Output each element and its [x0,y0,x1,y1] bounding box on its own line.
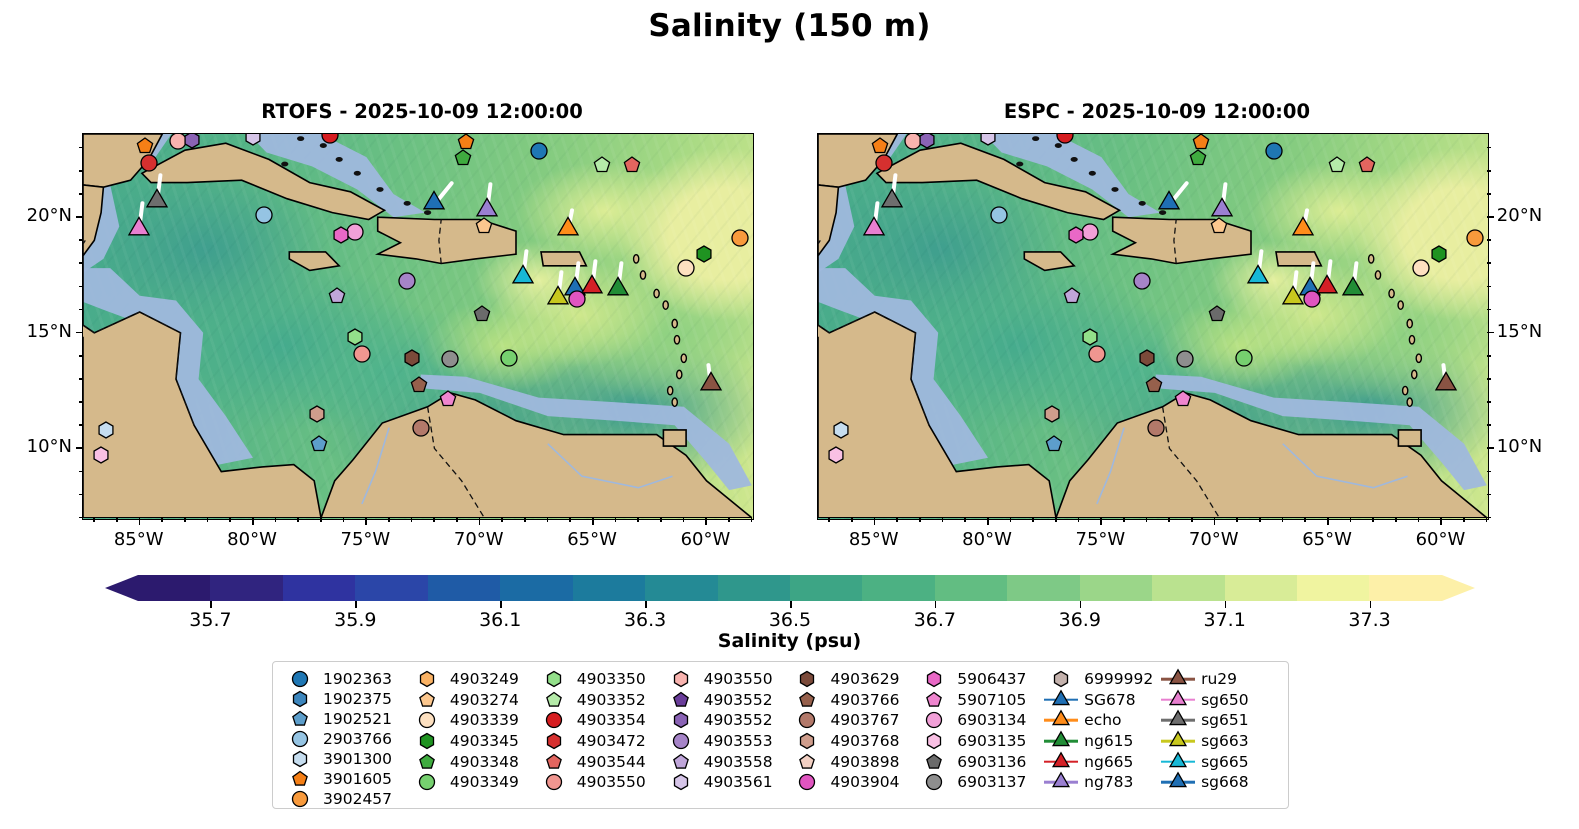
legend-item-label: 4903348 [444,753,519,771]
legend-column: 4903350490335249033544903472490354449035… [537,669,664,802]
observation-marker-2903766[interactable] [989,205,1009,225]
x-axis-tick [479,518,481,525]
x-axis-tick [728,518,730,522]
observation-marker-3902457[interactable] [1465,228,1485,248]
colorbar-segment [500,575,572,601]
circle-marker-icon [790,710,824,730]
x-axis-label: 85°W [834,529,914,550]
x-axis-tick [93,518,95,522]
x-axis-tick [1168,518,1170,522]
legend-column: ru29sg650sg651sg663sg665sg668 [1161,669,1278,802]
legend-item-label: 6903137 [951,773,1026,791]
pentagon-marker-icon [917,752,951,772]
observation-marker-sg651[interactable] [880,190,903,213]
observation-marker-4903904[interactable] [567,289,587,309]
legend-item[interactable]: 2903766 [283,729,410,749]
y-axis-tick [79,494,83,496]
legend-item[interactable]: ng615 [1044,731,1161,752]
x-axis-label: 60°W [665,529,745,550]
y-axis-tick [1487,239,1491,241]
legend-item[interactable]: 4903552 [664,710,791,731]
observation-marker-4903274[interactable] [474,216,494,236]
observation-marker-4903349[interactable] [1234,348,1254,368]
legend-item[interactable]: 4903249 [410,669,537,690]
legend-item-label: 4903558 [698,753,773,771]
x-axis-tick [1032,518,1034,522]
legend-item-label: 3901605 [317,770,392,788]
legend-item-label: 4903345 [444,732,519,750]
legend-item[interactable]: 6999992 [1044,669,1161,690]
observation-marker-sg650[interactable] [862,217,885,240]
triangle-marker-icon [1044,710,1078,730]
y-axis-tick [1487,471,1491,473]
colorbar-segment [355,575,427,601]
colorbar-tick-label: 36.3 [600,609,690,631]
triangle-marker-icon [1161,752,1195,772]
pentagon-marker-icon [664,690,698,710]
legend-item[interactable]: 4903904 [790,772,917,793]
x-axis-label: 80°W [212,529,292,550]
y-axis-tick [76,332,83,334]
colorbar-segment [1152,575,1224,601]
coastline-layer [83,134,752,518]
colorbar-segment [1080,575,1152,601]
legend-item[interactable]: 5907105 [917,690,1044,711]
x-axis-tick [896,518,898,522]
colorbar-tick-label: 36.5 [745,609,835,631]
legend-item[interactable]: 1902363 [283,669,410,689]
x-axis-tick [524,518,526,522]
legend-item[interactable]: 4903472 [537,731,664,752]
x-axis-tick [1214,518,1216,525]
y-axis-tick [1487,170,1491,172]
legend-item[interactable]: 1902521 [283,709,410,729]
x-axis-tick [851,518,853,522]
observation-marker-4903345[interactable] [694,244,714,264]
circle-marker-icon [917,772,951,792]
colorbar-tick [790,601,792,608]
circle-marker-icon [790,772,824,792]
colorbar-tick-label: 36.7 [890,609,980,631]
observation-marker-ng615[interactable] [1342,277,1365,300]
observation-marker-4903339[interactable] [1411,258,1431,278]
colorbar-tick-label: 35.9 [310,609,400,631]
x-axis-tick [501,518,503,522]
observation-marker-1902521[interactable] [1044,434,1064,454]
observation-marker-4903339[interactable] [676,258,696,278]
x-axis-tick [229,518,231,522]
legend-item[interactable]: echo [1044,710,1161,731]
observation-marker-3902457[interactable] [730,228,750,248]
x-axis-tick [615,518,617,522]
legend-item-label: sg650 [1195,691,1249,709]
map-panel-rtofs[interactable] [82,133,754,520]
legend-item[interactable]: 4903766 [790,690,917,711]
colorbar-tick-label: 35.7 [165,609,255,631]
legend-item-label: ru29 [1195,670,1237,688]
x-axis-tick [569,518,571,522]
circle-marker-icon [664,731,698,751]
x-axis-tick [1372,518,1374,522]
hexagon-marker-icon [537,669,571,689]
observation-marker-6903137[interactable] [440,349,460,369]
pentagon-marker-icon [537,690,571,710]
x-axis-tick [1236,518,1238,522]
x-axis-label: 75°W [1060,529,1140,550]
observation-marker-4903767[interactable] [1146,418,1166,438]
map-panel-espc[interactable] [817,133,1489,520]
legend-item-label: 3901300 [317,750,392,768]
legend-item[interactable]: 4903629 [790,669,917,690]
legend-item[interactable]: 4903349 [410,772,537,793]
legend-item[interactable]: 4903553 [664,731,791,752]
legend-item-label: 6903136 [951,753,1026,771]
coastline-layer [818,134,1487,518]
observation-marker-2903766[interactable] [254,205,274,225]
observation-marker-SG678[interactable] [423,192,446,215]
legend-item[interactable]: 3901300 [283,749,410,769]
legend-item-label: SG678 [1078,691,1135,709]
observation-marker-4903629[interactable] [402,348,422,368]
colorbar[interactable]: 35.735.936.136.336.536.736.937.137.3 [105,575,1475,601]
observation-marker-4903544[interactable] [622,155,642,175]
colorbar-tick [500,601,502,608]
observation-marker-4903274[interactable] [1209,216,1229,236]
observation-marker-4903352[interactable] [592,155,612,175]
observation-marker-4903766[interactable] [409,375,429,395]
hexagon-marker-icon [664,710,698,730]
legend-column: 4903629490376649037674903768490389849039… [790,669,917,802]
hexagon-marker-icon [410,731,444,751]
legend-item[interactable]: sg651 [1161,710,1278,731]
observation-marker-4903558[interactable] [1062,286,1082,306]
x-axis-tick [637,518,639,522]
observation-marker-4903561[interactable] [978,134,998,147]
observation-marker-echo[interactable] [1292,217,1315,240]
legend-item-label: 4903352 [571,691,646,709]
legend-item[interactable]: 4903552 [664,690,791,711]
legend-item[interactable]: 6903135 [917,731,1044,752]
y-axis-tick [79,309,83,311]
legend-item-label: 6903135 [951,732,1026,750]
observation-marker-4903349[interactable] [499,348,519,368]
y-axis-tick [1487,193,1491,195]
circle-marker-icon [537,710,571,730]
observation-marker-4903768[interactable] [307,404,327,424]
y-axis-tick [76,216,83,218]
legend-item-label: 4903249 [444,670,519,688]
observation-marker-4903348[interactable] [1188,148,1208,168]
x-axis-tick [1100,518,1102,525]
y-axis-tick [1487,447,1494,449]
observation-marker-4903768[interactable] [1042,404,1062,424]
observation-marker-1902363[interactable] [1264,141,1284,161]
y-axis-label: 15°N [0,321,72,342]
observation-marker-sg651[interactable] [145,190,168,213]
observation-marker-6903136[interactable] [1207,304,1227,324]
legend-item[interactable]: 4903544 [537,751,664,772]
x-axis-label: 70°W [439,529,519,550]
legend-item[interactable]: 4903561 [664,772,791,793]
legend-item[interactable]: SG678 [1044,690,1161,711]
colorbar-tick [935,601,937,608]
legend-item-label: 4903472 [571,732,646,750]
observation-marker-ru29[interactable] [1434,372,1457,395]
legend-item[interactable]: 4903550 [537,772,664,793]
observation-marker-4903472[interactable] [874,153,894,173]
legend-item[interactable]: sg663 [1161,731,1278,752]
colorbar-segment [1369,575,1441,601]
observation-marker-4903561[interactable] [243,134,263,147]
observation-marker-4903552[interactable] [917,134,937,150]
legend-item-label: 4903552 [698,691,773,709]
x-axis-tick [1350,518,1352,522]
legend-item-label: 5907105 [951,691,1026,709]
y-axis-tick [1487,355,1491,357]
observation-marker-4903472[interactable] [139,153,159,173]
legend-item-label: sg665 [1195,753,1249,771]
legend-item[interactable]: 3902457 [283,789,410,809]
colorbar-segment [573,575,645,601]
x-axis-label: 60°W [1400,529,1480,550]
legend-item[interactable]: 4903345 [410,731,537,752]
observation-marker-3901300[interactable] [831,420,851,440]
observation-marker-4903553[interactable] [397,271,417,291]
legend-item-label: sg651 [1195,711,1249,729]
legend-item-label: 4903550 [698,670,773,688]
observation-marker-4903553[interactable] [1132,271,1152,291]
platform-legend[interactable]: 1902363190237519025212903766390130039016… [272,661,1289,809]
observation-marker-5906437[interactable] [331,225,351,245]
colorbar-tick [210,601,212,608]
circle-marker-icon [283,669,317,689]
legend-item[interactable]: 6903134 [917,710,1044,731]
y-axis-tick [79,517,83,519]
observation-marker-sg663[interactable] [1281,287,1304,310]
x-axis-tick [1146,518,1148,522]
legend-item-label: sg668 [1195,773,1249,791]
triangle-marker-icon [1044,731,1078,751]
colorbar-tick [1080,601,1082,608]
x-axis-label: 80°W [947,529,1027,550]
legend-item[interactable]: sg665 [1161,751,1278,772]
legend-item[interactable]: 4903339 [410,710,537,731]
observation-marker-5906437[interactable] [1066,225,1086,245]
observation-marker-6903136[interactable] [472,304,492,324]
x-axis-tick [547,518,549,522]
pentagon-marker-icon [283,769,317,789]
colorbar-tick-label: 37.3 [1325,609,1415,631]
x-axis-tick [705,518,707,525]
observation-marker-echo[interactable] [557,217,580,240]
map-canvas-rtofs [83,134,753,519]
x-axis-tick [828,518,830,522]
y-axis-tick [79,355,83,357]
colorbar-segment [790,575,862,601]
legend-item[interactable]: 4903352 [537,690,664,711]
observation-marker-6903137[interactable] [1175,349,1195,369]
legend-item-label: 4903339 [444,711,519,729]
legend-item[interactable]: 4903354 [537,710,664,731]
observation-marker-ru29[interactable] [699,372,722,395]
observation-marker-4903904[interactable] [1302,289,1322,309]
colorbar-tick-label: 37.1 [1180,609,1270,631]
x-axis-label: 65°W [552,529,632,550]
legend-item[interactable]: 4903274 [410,690,537,711]
y-axis-tick [79,378,83,380]
legend-column: 4903249490327449033394903345490334849033… [410,669,537,802]
pentagon-marker-icon [917,690,951,710]
colorbar-tick [355,601,357,608]
colorbar-tick [1225,601,1227,608]
colorbar-tick [645,601,647,608]
observation-marker-ng615[interactable] [607,277,630,300]
x-axis-tick [139,518,141,525]
observation-marker-4903766[interactable] [1144,375,1164,395]
legend-item-label: 4903629 [824,670,899,688]
circle-marker-icon [283,729,317,749]
hexagon-marker-icon [664,669,698,689]
observation-marker-1902521[interactable] [309,434,329,454]
triangle-marker-icon [1044,752,1078,772]
legend-item[interactable]: 4903350 [537,669,664,690]
x-axis-tick [987,518,989,525]
observation-marker-3901300[interactable] [96,420,116,440]
hexagon-marker-icon [790,731,824,751]
observation-marker-6903135[interactable] [826,445,846,465]
pentagon-marker-icon [283,709,317,729]
observation-marker-sg650[interactable] [127,217,150,240]
hexagon-marker-icon [664,772,698,792]
y-axis-label: 15°N [1497,321,1575,342]
legend-item[interactable]: 6903136 [917,751,1044,772]
x-axis-tick [964,518,966,522]
x-axis-tick [1259,518,1261,522]
y-axis-tick [79,424,83,426]
legend-item[interactable]: 1902375 [283,689,410,709]
figure-title: Salinity (150 m) [0,8,1579,44]
x-axis-tick [751,518,753,522]
observation-marker-sg665[interactable] [511,266,534,289]
legend-item[interactable]: ru29 [1161,669,1278,690]
legend-item[interactable]: sg650 [1161,690,1278,711]
legend-item-label: ng665 [1078,753,1133,771]
observation-marker-sg663[interactable] [546,287,569,310]
colorbar-segment [935,575,1007,601]
legend-item-label: sg663 [1195,732,1249,750]
legend-item-label: 5906437 [951,670,1026,688]
x-axis-tick [456,518,458,522]
observation-marker-6903135[interactable] [91,445,111,465]
legend-item-label: 4903274 [444,691,519,709]
x-axis-tick [275,518,277,522]
x-axis-tick [1055,518,1057,522]
legend-column: 1902363190237519025212903766390130039016… [283,669,410,802]
legend-item-label: 4903904 [824,773,899,791]
panel-title-rtofs: RTOFS - 2025-10-09 12:00:00 [82,100,762,123]
x-axis-tick [365,518,367,525]
observation-marker-SG678[interactable] [1158,192,1181,215]
legend-item[interactable]: 4903558 [664,751,791,772]
observation-marker-4903354[interactable] [320,134,340,145]
legend-item[interactable]: ng783 [1044,772,1161,793]
x-axis-tick [1078,518,1080,522]
x-axis-tick [592,518,594,525]
legend-item-label: 4903354 [571,711,646,729]
observation-marker-4903550b[interactable] [352,344,372,364]
observation-marker-5907105[interactable] [1173,389,1193,409]
legend-item-label: 4903550 [571,773,646,791]
legend-column: 5906437590710569031346903135690313669031… [917,669,1044,802]
hexagon-marker-icon [917,669,951,689]
legend-item[interactable]: 3901605 [283,769,410,789]
legend-item[interactable]: ng665 [1044,751,1161,772]
legend-item[interactable]: 5906437 [917,669,1044,690]
legend-item-label: echo [1078,711,1121,729]
legend-item-label: 1902363 [317,670,392,688]
legend-item-label: 4903350 [571,670,646,688]
observation-marker-4903352[interactable] [1327,155,1347,175]
colorbar-segment [862,575,934,601]
colorbar-tick [1370,601,1372,608]
x-axis-tick [184,518,186,522]
observation-marker-4903348[interactable] [453,148,473,168]
legend-item[interactable]: 4903898 [790,751,917,772]
y-axis-label: 20°N [1497,205,1575,226]
legend-item-label: 6903134 [951,711,1026,729]
x-axis-tick [1304,518,1306,522]
x-axis-tick [1395,518,1397,522]
legend-item[interactable]: sg668 [1161,772,1278,793]
observation-marker-5907105[interactable] [438,389,458,409]
y-axis-label: 20°N [0,205,72,226]
observation-marker-sg665[interactable] [1246,266,1269,289]
legend-item[interactable]: 4903767 [790,710,917,731]
observation-marker-4903544[interactable] [1357,155,1377,175]
x-axis-tick [161,518,163,522]
hexagon-marker-icon [410,669,444,689]
observation-marker-4903767[interactable] [411,418,431,438]
observation-marker-4903354[interactable] [1055,134,1075,145]
y-axis-tick [79,471,83,473]
observation-marker-4903629[interactable] [1137,348,1157,368]
y-axis-label: 10°N [0,436,72,457]
legend-item[interactable]: 4903768 [790,731,917,752]
x-axis-tick [252,518,254,525]
legend-item-label: 4903552 [698,711,773,729]
legend-item[interactable]: 4903550 [664,669,791,690]
x-axis-label: 70°W [1174,529,1254,550]
observation-marker-4903558[interactable] [327,286,347,306]
x-axis-tick [343,518,345,522]
colorbar-tick-label: 36.1 [455,609,545,631]
legend-item[interactable]: 4903348 [410,751,537,772]
observation-marker-4903550b[interactable] [1087,344,1107,364]
x-axis-tick [116,518,118,522]
legend-column: 6999992SG678echong615ng665ng783 [1044,669,1161,802]
circle-marker-icon [410,710,444,730]
legend-item-label: 6999992 [1078,670,1153,688]
legend-item[interactable]: 6903137 [917,772,1044,793]
legend-item-label: 4903898 [824,753,899,771]
x-axis-tick [297,518,299,522]
observation-marker-4903552[interactable] [182,134,202,150]
observation-marker-4903345[interactable] [1429,244,1449,264]
y-axis-label: 10°N [1497,436,1575,457]
colorbar-segment [1297,575,1369,601]
observation-marker-1902363[interactable] [529,141,549,161]
x-axis-label: 85°W [99,529,179,550]
